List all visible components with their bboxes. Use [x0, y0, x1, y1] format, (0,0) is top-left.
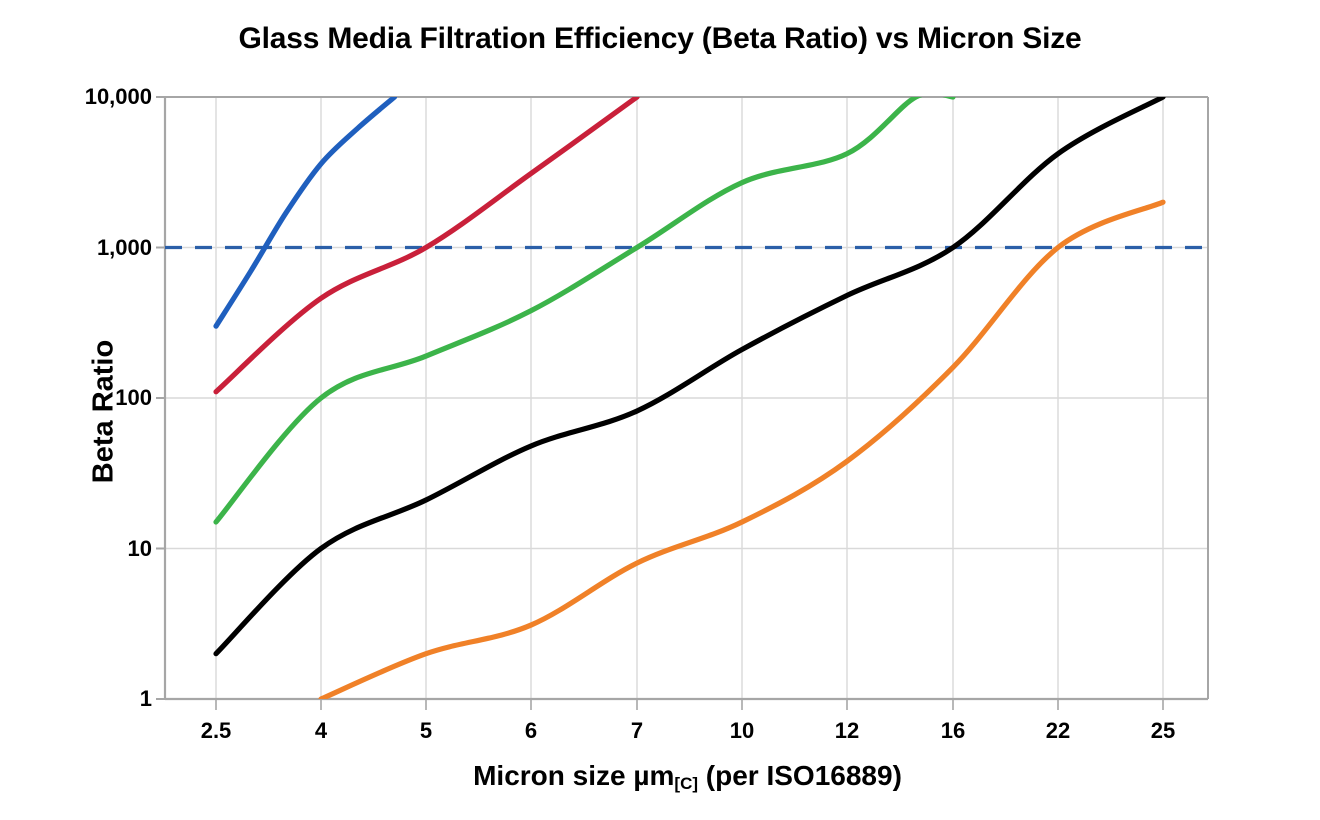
plot-area — [0, 0, 1320, 820]
chart-root: Glass Media Filtration Efficiency (Beta … — [0, 0, 1320, 820]
